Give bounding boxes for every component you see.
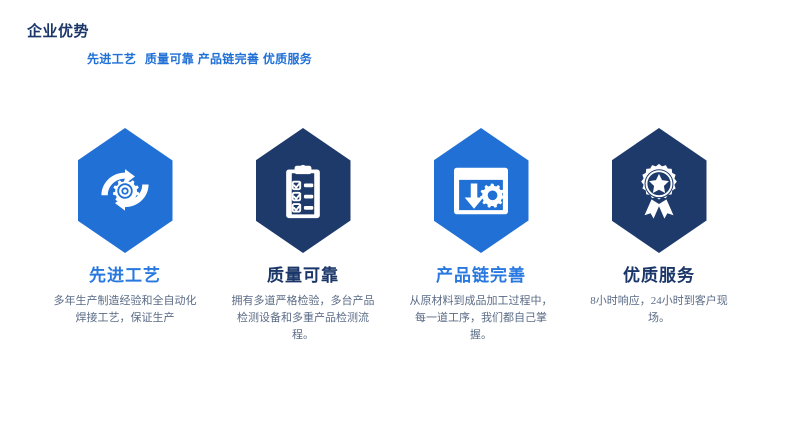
- advantage-card: 先进工艺 多年生产制造经验和全自动化焊接工艺，保证生产: [36, 128, 214, 327]
- hexagon-badge-quality-reliable: [256, 128, 351, 253]
- card-title: 先进工艺: [89, 265, 161, 287]
- browser-download-gear-icon: [452, 164, 510, 218]
- gear-cycle-icon: [96, 162, 154, 220]
- card-title: 质量可靠: [267, 265, 339, 287]
- advantage-card: 产品链完善 从原材料到成品加工过程中，每一道工序，我们都自己掌握。: [392, 128, 570, 344]
- card-title: 优质服务: [623, 265, 695, 287]
- subtitle-item-0: 先进工艺: [87, 52, 136, 66]
- advantage-card: 优质服务 8小时响应，24小时到客户现场。: [570, 128, 748, 327]
- header-subtitle: 先进工艺 质量可靠 产品链完善 优质服务: [87, 50, 312, 68]
- hexagon-badge-complete-chain: [434, 128, 529, 253]
- hexagon-badge-quality-service: [612, 128, 707, 253]
- subtitle-item-1: 质量可靠: [145, 52, 194, 66]
- card-description: 8小时响应，24小时到客户现场。: [583, 293, 735, 327]
- card-title: 产品链完善: [436, 265, 526, 287]
- hexagon-badge-advanced-process: [78, 128, 173, 253]
- award-ribbon-star-icon: [631, 162, 687, 220]
- clipboard-checklist-icon: [278, 162, 328, 220]
- advantage-card-row: 先进工艺 多年生产制造经验和全自动化焊接工艺，保证生产: [0, 128, 790, 344]
- page-title: 企业优势: [27, 22, 89, 42]
- card-description: 多年生产制造经验和全自动化焊接工艺，保证生产: [49, 293, 201, 327]
- subtitle-item-3: 优质服务: [263, 52, 312, 66]
- subtitle-item-2: 产品链完善: [198, 52, 260, 66]
- card-description: 拥有多道严格检验，多台产品检测设备和多重产品检测流程。: [227, 293, 379, 344]
- card-description: 从原材料到成品加工过程中，每一道工序，我们都自己掌握。: [405, 293, 557, 344]
- advantage-card: 质量可靠 拥有多道严格检验，多台产品检测设备和多重产品检测流程。: [214, 128, 392, 344]
